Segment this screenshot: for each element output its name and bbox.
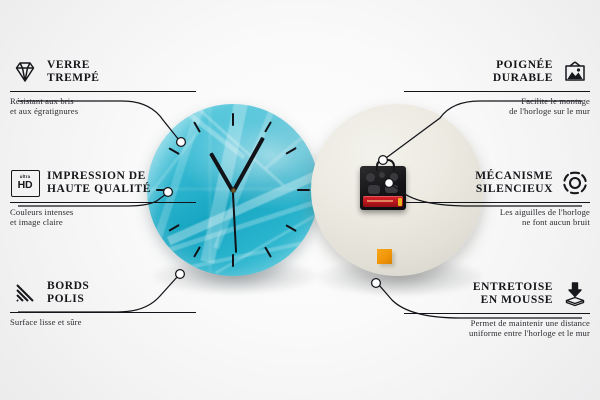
feature-poignee-durable: POIGNÉE DURABLE Facilite le montage de l… bbox=[404, 57, 590, 117]
ultra-hd-icon: ultra HD bbox=[10, 168, 40, 198]
feature-title: ENTRETOISE EN MOUSSE bbox=[473, 281, 553, 306]
hour-marker bbox=[232, 113, 234, 126]
feature-verre-trempe: VERRE TREMPÉ Résistant aux bris et aux é… bbox=[10, 57, 196, 117]
hour-marker bbox=[232, 254, 234, 267]
feature-description: Couleurs intenses et image claire bbox=[10, 207, 196, 228]
polished-edges-icon bbox=[10, 278, 40, 308]
hd-badge-large: HD bbox=[18, 180, 33, 191]
feature-impression-hd: ultra HD IMPRESSION DE HAUTE QUALITÉ Cou… bbox=[10, 168, 196, 228]
wall-hanger-icon bbox=[560, 57, 590, 87]
divider bbox=[10, 202, 196, 203]
feature-description: Facilite le montage de l'horloge sur le … bbox=[404, 96, 590, 117]
hour-marker bbox=[297, 189, 310, 192]
battery bbox=[363, 196, 403, 207]
feature-description: Les aiguilles de l'horloge ne font aucun… bbox=[404, 207, 590, 228]
clock-mechanism bbox=[360, 166, 406, 210]
feature-mecanisme-silencieux: MÉCANISME SILENCIEUX Les aiguilles de l'… bbox=[404, 168, 590, 228]
feature-title: VERRE TREMPÉ bbox=[47, 59, 100, 84]
hands-center-cap bbox=[231, 188, 236, 193]
divider bbox=[404, 313, 590, 314]
divider bbox=[404, 91, 590, 92]
divider bbox=[404, 202, 590, 203]
diamond-icon bbox=[10, 57, 40, 87]
feature-title: IMPRESSION DE HAUTE QUALITÉ bbox=[47, 170, 151, 195]
feature-title: BORDS POLIS bbox=[47, 280, 89, 305]
divider bbox=[10, 91, 196, 92]
feature-description: Surface lisse et sûre bbox=[10, 317, 196, 327]
hanger-loop-icon bbox=[376, 159, 395, 171]
feature-description: Permet de maintenir une distance uniform… bbox=[404, 318, 590, 339]
feature-entretoise-mousse: ENTRETOISE EN MOUSSE Permet de maintenir… bbox=[404, 279, 590, 339]
feature-bords-polis: BORDS POLIS Surface lisse et sûre bbox=[10, 278, 196, 327]
feature-title: POIGNÉE DURABLE bbox=[493, 59, 553, 84]
divider bbox=[10, 312, 196, 313]
infographic-canvas: VERRE TREMPÉ Résistant aux bris et aux é… bbox=[0, 0, 600, 400]
hour-marker bbox=[193, 246, 201, 258]
feature-title: MÉCANISME SILENCIEUX bbox=[475, 170, 553, 195]
foam-spacer bbox=[377, 249, 392, 264]
gear-icon bbox=[560, 168, 590, 198]
feature-description: Résistant aux bris et aux égratignures bbox=[10, 96, 196, 117]
hour-marker bbox=[168, 147, 180, 155]
foam-spacer-icon bbox=[560, 279, 590, 309]
